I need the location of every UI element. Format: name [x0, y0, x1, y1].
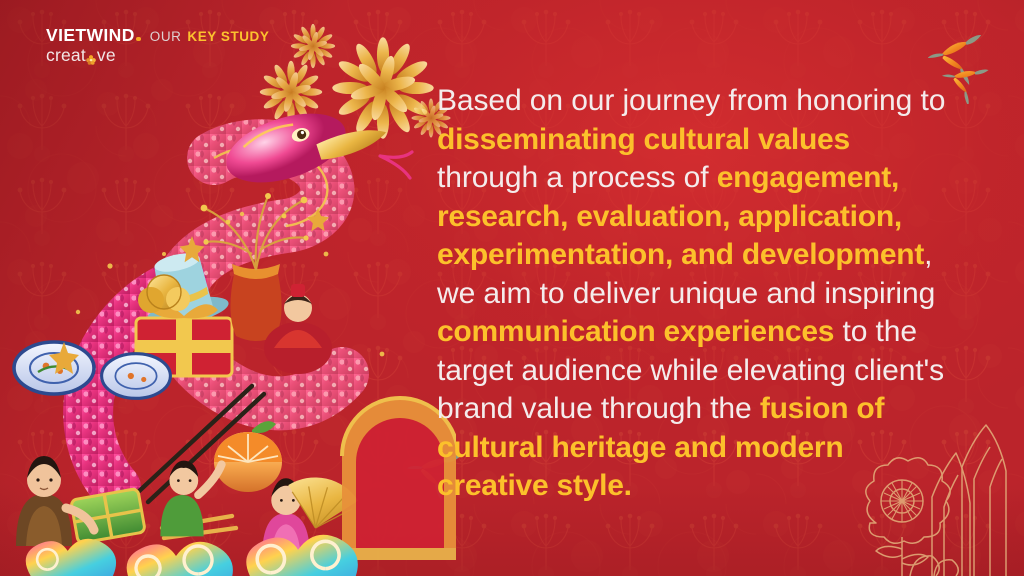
tagline-prefix: OUR	[150, 29, 182, 44]
brand-lockup[interactable]: VIETWIND creat ve OU	[46, 27, 269, 64]
logo-ve-text: ve	[97, 47, 116, 65]
tagline-emphasis: KEY STUDY	[187, 29, 269, 44]
logo-wordmark-bottom: creat ve	[46, 47, 141, 65]
statement-highlight-1: disseminating cultural values	[437, 123, 850, 156]
slide-canvas: VIETWIND creat ve OU	[0, 0, 1024, 576]
statement-highlight-5: communication experiences	[437, 315, 834, 348]
logo-vietwind-text: VIETWIND	[46, 27, 135, 45]
logo-wordmark-top: VIETWIND	[46, 27, 141, 45]
vietwind-creative-logo[interactable]: VIETWIND creat ve	[46, 27, 141, 64]
key-study-statement: Based on our journey from honoring to di…	[437, 82, 957, 506]
lunar-new-year-snake-illustration	[0, 86, 456, 576]
orange-dot-icon	[136, 37, 141, 42]
statement-text-0: Based on our journey from honoring to	[437, 84, 945, 117]
logo-creat-text: creat	[46, 47, 86, 65]
tagline: OUR KEY STUDY	[150, 27, 270, 44]
statement-text-2: through a process of	[437, 161, 717, 194]
apricot-blossom-icon	[86, 51, 96, 62]
